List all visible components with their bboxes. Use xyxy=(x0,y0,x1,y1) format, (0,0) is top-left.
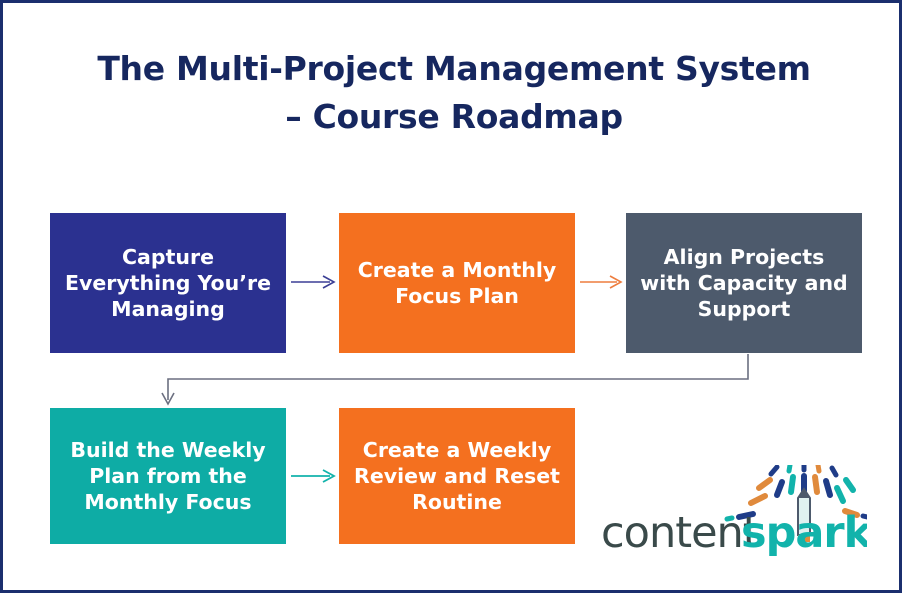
process-step-monthly-focus-plan[interactable]: Create a Monthly Focus Plan xyxy=(339,213,575,353)
slide-canvas: The Multi-Project Management System – Co… xyxy=(0,0,902,593)
process-step-label: Create a Weekly Review and Reset Routine xyxy=(349,437,565,516)
logo-word-sparks: sparks xyxy=(741,508,867,558)
page-title-line-1: The Multi-Project Management System xyxy=(97,49,810,88)
process-step-weekly-plan[interactable]: Build the Weekly Plan from the Monthly F… xyxy=(50,408,286,544)
contentsparks-logo: content sparks xyxy=(599,465,867,563)
process-step-capture-everything[interactable]: Capture Everything You’re Managing xyxy=(50,213,286,353)
arrow-box1-to-box2 xyxy=(291,276,334,288)
arrow-box2-to-box3 xyxy=(580,276,621,288)
process-step-label: Create a Monthly Focus Plan xyxy=(349,257,565,309)
process-step-align-projects[interactable]: Align Projects with Capacity and Support xyxy=(626,213,862,353)
arrow-box4-to-box5 xyxy=(291,470,334,482)
logo-word-content: content xyxy=(601,508,759,558)
process-step-label: Build the Weekly Plan from the Monthly F… xyxy=(60,437,276,516)
arrow-box3-to-box4 xyxy=(162,354,748,404)
page-title-line-2: – Course Roadmap xyxy=(53,93,855,141)
process-step-label: Align Projects with Capacity and Support xyxy=(636,244,852,323)
process-step-label: Capture Everything You’re Managing xyxy=(60,244,276,323)
process-step-weekly-review[interactable]: Create a Weekly Review and Reset Routine xyxy=(339,408,575,544)
page-title: The Multi-Project Management System – Co… xyxy=(53,45,855,141)
